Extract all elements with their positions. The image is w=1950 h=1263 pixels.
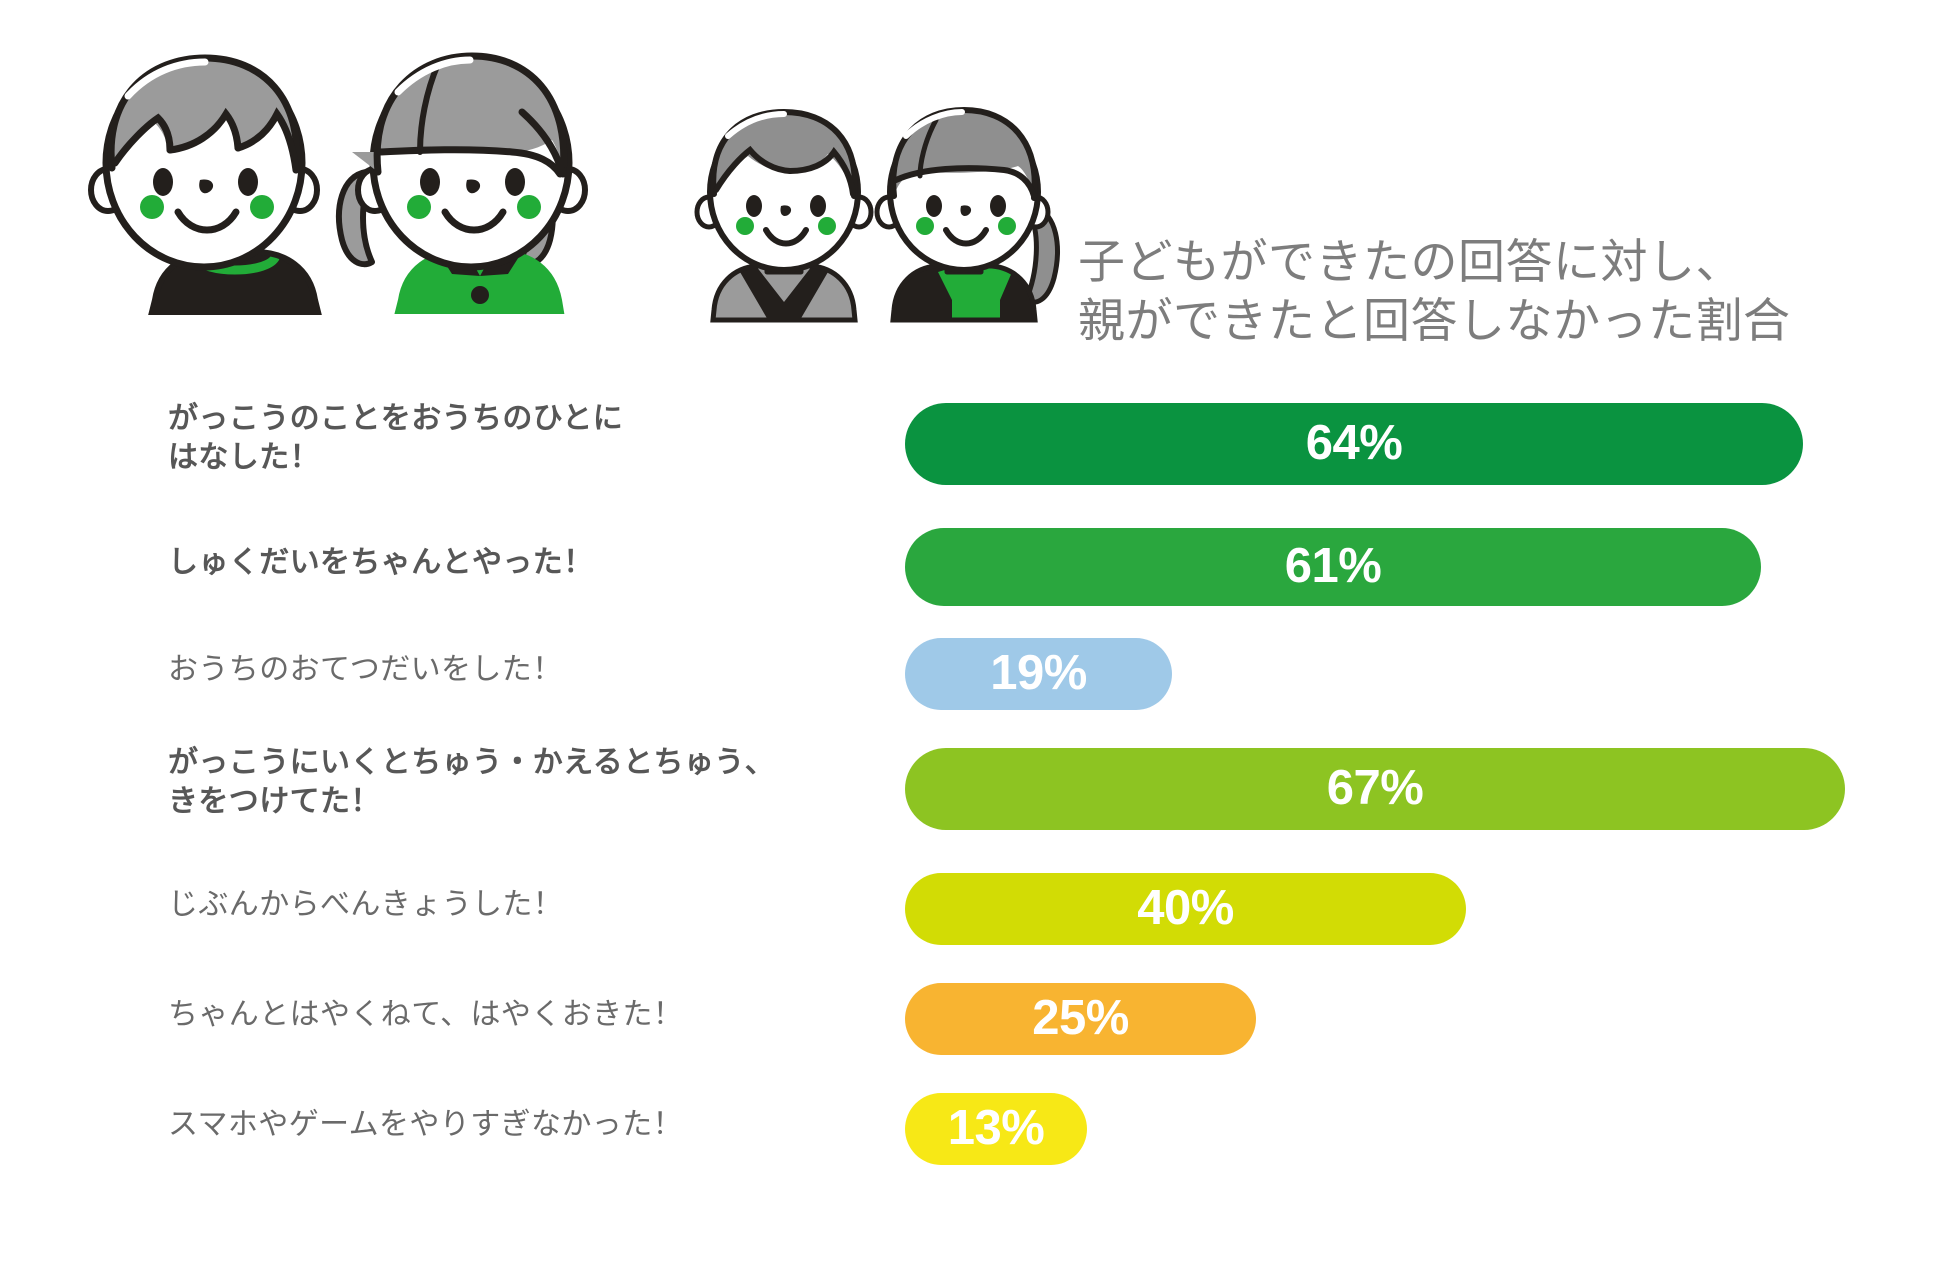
row-label-4: がっこうにいくとちゅう・かえるとちゅう、 きをつけてた！ <box>168 743 775 821</box>
bar-value-7: 13% <box>948 1104 1045 1153</box>
row-label-3: おうちのおてつだいをした！ <box>168 650 563 689</box>
row-label-5: じぶんからべんきょうした！ <box>168 885 563 924</box>
bar-value-4: 67% <box>1327 764 1424 813</box>
bar-value-1: 64% <box>1306 419 1403 468</box>
chart-title-line-2: 親ができたと回答しなかった割合 <box>1078 291 1791 350</box>
bar-3: 19% <box>905 638 1172 710</box>
father-parent-figure <box>697 112 871 320</box>
bar-value-3: 19% <box>990 649 1087 698</box>
chart-title-line-1: 子どもができたの回答に対し、 <box>1078 232 1791 291</box>
bar-value-2: 61% <box>1285 542 1382 591</box>
row-label-7: スマホやゲームをやりすぎなかった！ <box>168 1105 683 1144</box>
infographic-page: 子どもができたの回答に対し、 親ができたと回答しなかった割合 がっこうのことをお… <box>0 0 1950 1263</box>
row-label-1: がっこうのことをおうちのひとに はなした！ <box>168 399 623 477</box>
mother-parent-figure <box>877 110 1057 320</box>
row-label-6: ちゃんとはやくねて、はやくおきた！ <box>168 995 683 1034</box>
bar-value-5: 40% <box>1137 884 1234 933</box>
bar-1: 64% <box>905 403 1803 485</box>
bar-4: 67% <box>905 748 1845 830</box>
girl-child-figure <box>339 56 585 312</box>
bar-value-6: 25% <box>1032 994 1129 1043</box>
bar-6: 25% <box>905 983 1256 1055</box>
character-illustration-group <box>0 0 1100 390</box>
chart-title: 子どもができたの回答に対し、 親ができたと回答しなかった割合 <box>1078 232 1791 350</box>
bar-2: 61% <box>905 528 1761 606</box>
bar-5: 40% <box>905 873 1466 945</box>
bar-7: 13% <box>905 1093 1087 1165</box>
row-label-2: しゅくだいをちゃんとやった！ <box>168 543 594 582</box>
boy-child-figure <box>91 58 318 312</box>
